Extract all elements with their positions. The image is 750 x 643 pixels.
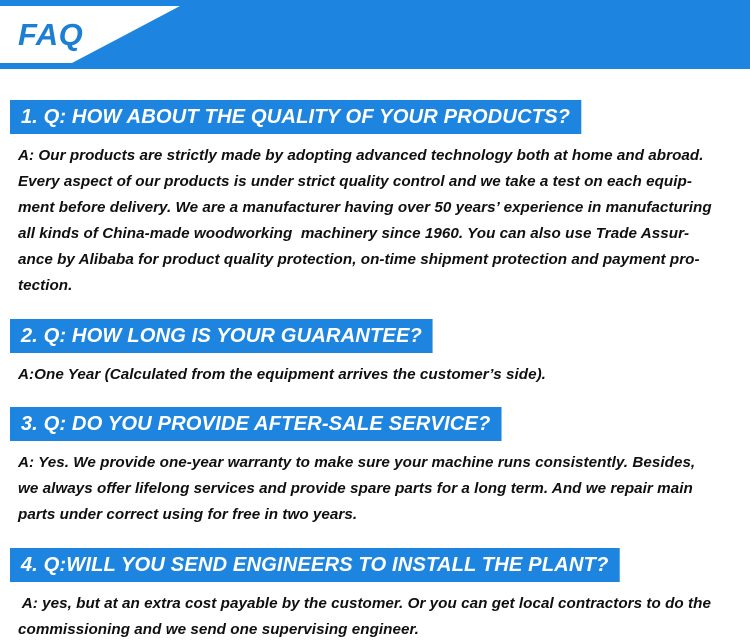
- faq-item-1: 1. Q: HOW ABOUT THE QUALITY OF YOUR PROD…: [0, 69, 750, 299]
- answer-line: commissioning and we send one supervisin…: [18, 617, 742, 643]
- faq-list: 1. Q: HOW ABOUT THE QUALITY OF YOUR PROD…: [0, 69, 750, 643]
- answer-line: parts under correct using for free in tw…: [18, 502, 742, 528]
- faq-question-row-1: 1. Q: HOW ABOUT THE QUALITY OF YOUR PROD…: [0, 100, 750, 134]
- faq-question-row-2: 2. Q: HOW LONG IS YOUR GUARANTEE?: [0, 319, 750, 353]
- answer-line: we always offer lifelong services and pr…: [18, 476, 742, 502]
- answer-line: Every aspect of our products is under st…: [18, 169, 742, 195]
- faq-page: FAQ 1. Q: HOW ABOUT THE QUALITY OF YOUR …: [0, 0, 750, 629]
- faq-question-4[interactable]: 4. Q:WILL YOU SEND ENGINEERS TO INSTALL …: [10, 548, 619, 582]
- answer-line: ment before delivery. We are a manufactu…: [18, 195, 742, 221]
- faq-answer-2: A:One Year (Calculated from the equipmen…: [0, 353, 750, 388]
- faq-question-1[interactable]: 1. Q: HOW ABOUT THE QUALITY OF YOUR PROD…: [10, 100, 581, 134]
- faq-item-2: 2. Q: HOW LONG IS YOUR GUARANTEE? A:One …: [0, 299, 750, 388]
- faq-question-row-4: 4. Q:WILL YOU SEND ENGINEERS TO INSTALL …: [0, 548, 750, 582]
- answer-line: A: Our products are strictly made by ado…: [18, 143, 742, 169]
- answer-line: A: Yes. We provide one-year warranty to …: [18, 450, 742, 476]
- faq-answer-4: A: yes, but at an extra cost payable by …: [0, 582, 750, 643]
- answer-line: ance by Alibaba for product quality prot…: [18, 247, 742, 273]
- faq-item-3: 3. Q: DO YOU PROVIDE AFTER-SALE SERVICE?…: [0, 388, 750, 528]
- answer-line: A:One Year (Calculated from the equipmen…: [18, 362, 742, 388]
- answer-line: A: yes, but at an extra cost payable by …: [18, 591, 742, 617]
- page-title: FAQ: [18, 17, 83, 53]
- faq-answer-3: A: Yes. We provide one-year warranty to …: [0, 441, 750, 528]
- faq-answer-1: A: Our products are strictly made by ado…: [0, 134, 750, 299]
- faq-question-3[interactable]: 3. Q: DO YOU PROVIDE AFTER-SALE SERVICE?: [10, 407, 501, 441]
- faq-question-2[interactable]: 2. Q: HOW LONG IS YOUR GUARANTEE?: [10, 319, 433, 353]
- answer-line: all kinds of China-made woodworking mach…: [18, 221, 742, 247]
- faq-item-4: 4. Q:WILL YOU SEND ENGINEERS TO INSTALL …: [0, 528, 750, 643]
- faq-question-row-3: 3. Q: DO YOU PROVIDE AFTER-SALE SERVICE?: [0, 407, 750, 441]
- faq-header-banner: FAQ: [0, 0, 750, 69]
- answer-line: tection.: [18, 273, 742, 299]
